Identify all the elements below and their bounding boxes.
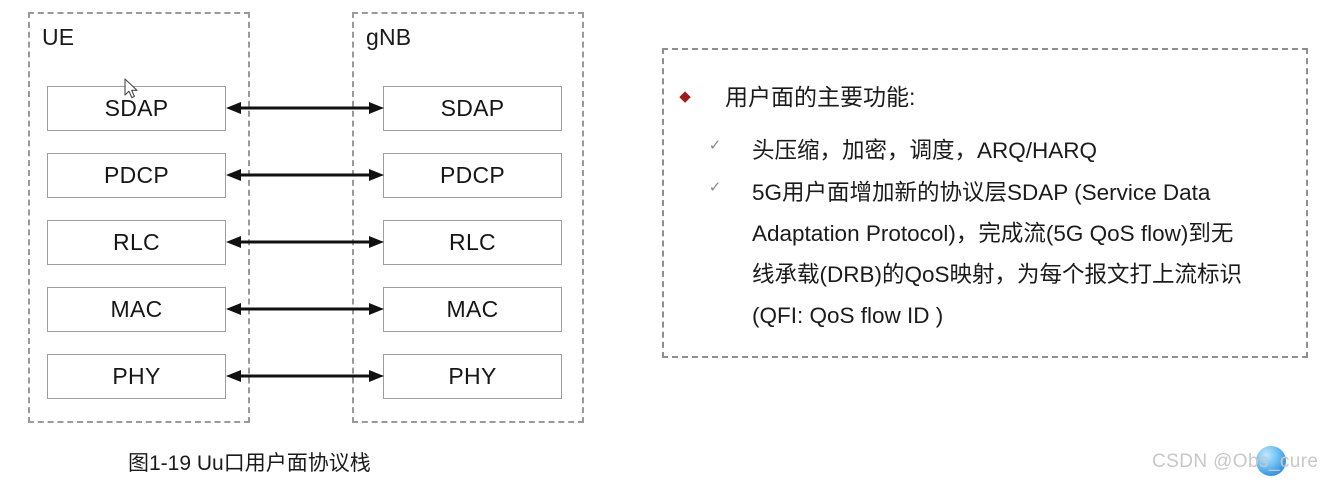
peer-link-arrow-pdcp bbox=[226, 167, 384, 183]
bullet-sub-line: 5G用户面增加新的协议层SDAP (Service Data bbox=[752, 172, 1288, 213]
diamond-bullet-icon: ◆ bbox=[678, 82, 692, 112]
layer-box-ue-mac: MAC bbox=[47, 287, 226, 332]
layer-box-ue-pdcp: PDCP bbox=[47, 153, 226, 198]
bullet-sub-item: ✓ 头压缩，加密，调度，ARQ/HARQ bbox=[708, 130, 1288, 171]
layer-box-ue-rlc: RLC bbox=[47, 220, 226, 265]
peer-link-arrow-sdap bbox=[226, 100, 384, 116]
layer-box-gnb-sdap: SDAP bbox=[383, 86, 562, 131]
peer-link-arrow-rlc bbox=[226, 234, 384, 250]
protocol-stack-figure: UE gNB SDAP PDCP RLC MAC PHY SDAP PDCP R… bbox=[0, 0, 620, 482]
layer-box-gnb-mac: MAC bbox=[383, 287, 562, 332]
layer-box-gnb-phy: PHY bbox=[383, 354, 562, 399]
notes-panel: ◆ 用户面的主要功能: ✓ 头压缩，加密，调度，ARQ/HARQ ✓ 5G用户面… bbox=[662, 48, 1308, 358]
layer-box-gnb-pdcp: PDCP bbox=[383, 153, 562, 198]
layer-box-gnb-rlc: RLC bbox=[383, 220, 562, 265]
check-bullet-icon: ✓ bbox=[708, 172, 722, 204]
figure-caption: 图1-19 Uu口用户面协议栈 bbox=[128, 447, 371, 477]
bullet-sub-text: 头压缩，加密，调度，ARQ/HARQ bbox=[752, 130, 1288, 171]
domain-label-gnb: gNB bbox=[366, 26, 411, 49]
bullet-sub-line: (QFI: QoS flow ID ) bbox=[752, 295, 1288, 336]
bullet-sub-line: Adaptation Protocol)，完成流(5G QoS flow)到无 bbox=[752, 213, 1288, 254]
bullet-sub-line: 线承载(DRB)的QoS映射，为每个报文打上流标识 bbox=[752, 254, 1288, 295]
watermark-text: CSDN @Obs_cure bbox=[1152, 451, 1318, 473]
layer-box-ue-sdap: SDAP bbox=[47, 86, 226, 131]
bullet-sub-text: 5G用户面增加新的协议层SDAP (Service Data Adaptatio… bbox=[752, 172, 1288, 336]
layer-box-ue-phy: PHY bbox=[47, 354, 226, 399]
peer-link-arrow-phy bbox=[226, 368, 384, 384]
bullet-sub-line: 头压缩，加密，调度，ARQ/HARQ bbox=[752, 130, 1288, 171]
domain-label-ue: UE bbox=[42, 26, 74, 49]
check-bullet-icon: ✓ bbox=[708, 130, 722, 162]
watermark: CSDN @Obs_cure bbox=[1152, 450, 1318, 474]
bullet-main-text: 用户面的主要功能: bbox=[725, 82, 915, 112]
bullet-main-function: ◆ 用户面的主要功能: bbox=[678, 82, 1288, 112]
peer-link-arrow-mac bbox=[226, 301, 384, 317]
bullet-sub-item: ✓ 5G用户面增加新的协议层SDAP (Service Data Adaptat… bbox=[708, 172, 1288, 336]
